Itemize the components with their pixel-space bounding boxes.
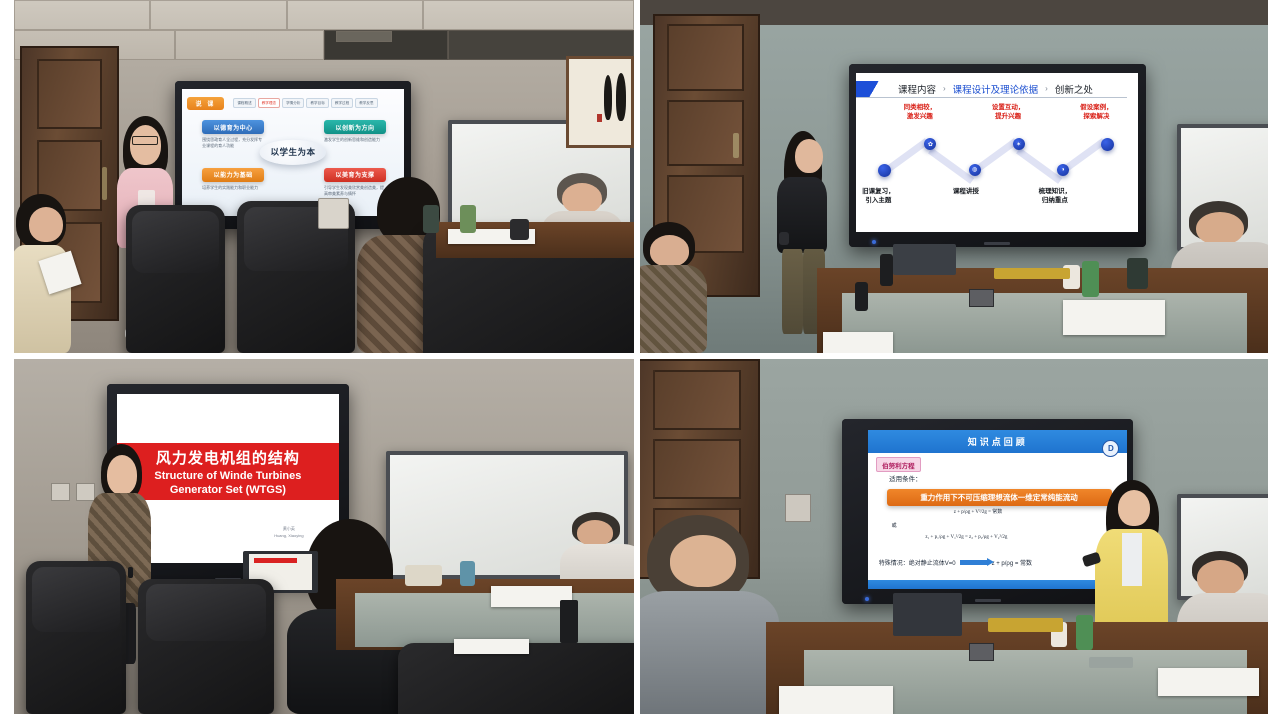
- audio-recorder: [969, 289, 994, 307]
- eyeglasses: [1089, 657, 1133, 668]
- bottle-green: [1082, 261, 1098, 296]
- flow-label-above-5: 假设案例， 探索解决: [1080, 103, 1113, 122]
- speaker-box: [1127, 258, 1148, 290]
- slide-tab-0[interactable]: 课程概述: [233, 98, 255, 108]
- slide-box-title-0: 以德育为中心: [202, 120, 264, 134]
- glasses: [132, 136, 158, 145]
- slide-header-title: 知识点回顾: [968, 435, 1028, 448]
- attendee-left: [14, 194, 88, 353]
- flow-node-5: [1101, 138, 1114, 151]
- slide-box-innovation: 以创新为方向 激发学生的创新思维和创造能力: [324, 120, 386, 143]
- wall-socket-1[interactable]: [51, 483, 70, 501]
- slide-box-title-2: 以能力为基础: [202, 168, 264, 182]
- panel-top-right[interactable]: 课程内容 › 课程设计及理论依据 › 创新之处: [640, 0, 1268, 353]
- slide-header-band: 知识点回顾: [868, 430, 1127, 452]
- wristwatch: [779, 232, 789, 245]
- microphone-2: [855, 282, 868, 310]
- slide-condition-label: 适用条件：: [889, 473, 922, 483]
- slide-footer-band: [868, 580, 1127, 590]
- microphone-1: [880, 254, 893, 286]
- breadcrumb-sep-1: ›: [1045, 84, 1048, 93]
- attendee-left: [640, 222, 716, 353]
- special-case-result: z + p/ρg = 常数: [992, 558, 1032, 567]
- slide-tab-3[interactable]: 教学目标: [306, 98, 328, 108]
- star-icon: ✶: [1016, 141, 1021, 148]
- breadcrumb-item-0[interactable]: 课程内容: [898, 82, 936, 96]
- table-papers-2: [823, 332, 893, 353]
- slide-box-desc-1: 激发学生的创新思维和创造能力: [324, 137, 386, 143]
- snack-bag: [988, 618, 1064, 632]
- breadcrumb-item-2[interactable]: 创新之处: [1055, 82, 1093, 96]
- laptop: [893, 244, 956, 276]
- slide-title-en1: Structure of Winde Turbines: [154, 470, 301, 482]
- leather-chair-1: [126, 205, 225, 353]
- panel-bottom-right[interactable]: 知识点回顾 D 伯努利方程 适用条件： 重力作用下不可压缩理想流体一维定常纯能流…: [640, 359, 1268, 714]
- slide-box-moral: 以德育为中心 围绕思政育人全过程，充分发挥专业课程的育人功能: [202, 120, 264, 149]
- bottle-green: [1076, 615, 1092, 651]
- slide-breadcrumb: 课程内容 › 课程设计及理论依据 › 创新之处: [856, 81, 1127, 99]
- slide-tab-2[interactable]: 学情分析: [282, 98, 304, 108]
- flow-label-below-4: 梳理知识， 归纳重点: [1039, 187, 1072, 206]
- flow-node-2: ◍: [969, 164, 981, 176]
- cup-group: [405, 565, 442, 586]
- university-seal-icon: D: [1102, 440, 1119, 457]
- slide-box-desc-2: 培养学生的实践能力和职业能力: [202, 185, 264, 191]
- table-papers-2: [454, 639, 528, 653]
- book-icon: ◍: [972, 166, 977, 173]
- slide-tabs: 课程概述 教学理念 学情分析 教学目标 教学过程 教学反思: [233, 98, 377, 108]
- audio-recorder: [969, 643, 994, 661]
- zigzag-flow-diagram: ✿ ◍ ✶ ◑ 旧课复习， 引入主题 同类相较， 激发兴趣 课程讲授 设置互动，…: [867, 117, 1127, 222]
- cup-1: [510, 219, 529, 240]
- panel-top-left[interactable]: 说 课 课程概述 教学理念 学情分析 教学目标 教学过程 教学反思 以德育为中心…: [14, 0, 634, 353]
- half-circle-icon: ◑: [1061, 167, 1065, 173]
- slide-center-oval: 以学生为本: [260, 140, 326, 164]
- flow-label-below-2: 课程讲授: [953, 187, 979, 196]
- slide-special-case: 特殊情况：绝对静止流体V=0 z + p/ρg = 常数: [879, 558, 1032, 567]
- smartboard-display[interactable]: 课程内容 › 课程设计及理论依据 › 创新之处: [849, 64, 1146, 248]
- slide-tag-bernoulli: 伯努利方程: [876, 457, 921, 472]
- slide-box-title-1: 以创新为方向: [324, 120, 386, 134]
- slide-orange-banner: 重力作用下不可压缩理想流体一维定常纯能流动: [887, 489, 1112, 506]
- breadcrumb-item-1[interactable]: 课程设计及理论依据: [953, 82, 1039, 96]
- slide-tab-5[interactable]: 教学反思: [355, 98, 377, 108]
- blouse: [1122, 533, 1142, 586]
- flow-label-above-3: 设置互动， 提升兴趣: [992, 103, 1025, 122]
- smartboard-display[interactable]: 知识点回顾 D 伯努利方程 适用条件： 重力作用下不可压缩理想流体一维定常纯能流…: [842, 419, 1133, 604]
- slide-equation-or: 或: [892, 522, 897, 529]
- calligraphy-scroll: [566, 56, 634, 148]
- leather-chair-3: [398, 643, 634, 714]
- arrow-icon: [960, 560, 988, 565]
- slide-course-design: 课程内容 › 课程设计及理论依据 › 创新之处: [856, 73, 1138, 233]
- bottle-2: [460, 205, 476, 233]
- leather-chair-1: [26, 561, 125, 714]
- snack-bag: [994, 268, 1070, 279]
- slide-box-desc-0: 围绕思政育人全过程，充分发挥专业课程的育人功能: [202, 137, 264, 149]
- flow-label-above-1: 同类相较， 激发兴趣: [904, 103, 937, 122]
- bottle-1: [423, 205, 439, 233]
- leather-chair-2: [138, 579, 274, 714]
- panel-bottom-left[interactable]: 风力发电机组的结构 Structure of Winde Turbines Ge…: [14, 359, 634, 714]
- display-brand-logo: [984, 242, 1010, 245]
- bottle-1: [460, 561, 475, 586]
- display-brand-logo: [975, 599, 1001, 602]
- slide-tab-1[interactable]: 教学理念: [258, 98, 280, 108]
- photo-collage: 说 课 课程概述 教学理念 学情分析 教学目标 教学过程 教学反思 以德育为中心…: [0, 0, 1268, 714]
- wall-control-panel[interactable]: [318, 198, 349, 230]
- slide-title-cn: 风力发电机组的结构: [156, 447, 300, 468]
- flower-icon: ✿: [928, 141, 933, 148]
- table-papers: [1063, 300, 1164, 335]
- table-papers-2: [779, 686, 893, 714]
- clicker[interactable]: [128, 567, 133, 578]
- slide-title-en2: Generator Set (WTGS): [170, 484, 286, 496]
- slide-box-ability: 以能力为基础 培养学生的实践能力和职业能力: [202, 168, 264, 191]
- flow-node-0: [878, 164, 891, 177]
- slide-equation-2: z₁ + p₁/ρg + V₁²/2g = z₂ + p₂/ρg + V₂²/2…: [925, 535, 1007, 540]
- special-case-label: 特殊情况：绝对静止流体V=0: [879, 558, 956, 567]
- flow-node-4: ◑: [1057, 164, 1069, 176]
- slide-flag-icon: [856, 81, 888, 98]
- table-glass-top: [842, 293, 1246, 353]
- slide-equation-1: z + p/ρg + V²/2g = 常数: [954, 508, 1002, 515]
- laptop[interactable]: [893, 593, 963, 636]
- slide-chip-label: 说 课: [187, 97, 225, 110]
- flow-label-below-0: 旧课复习， 引入主题: [862, 187, 895, 206]
- slide-tab-4[interactable]: 教学过程: [331, 98, 353, 108]
- table-papers: [1158, 668, 1259, 696]
- thermos: [560, 600, 579, 643]
- breadcrumb-sep-0: ›: [943, 84, 946, 93]
